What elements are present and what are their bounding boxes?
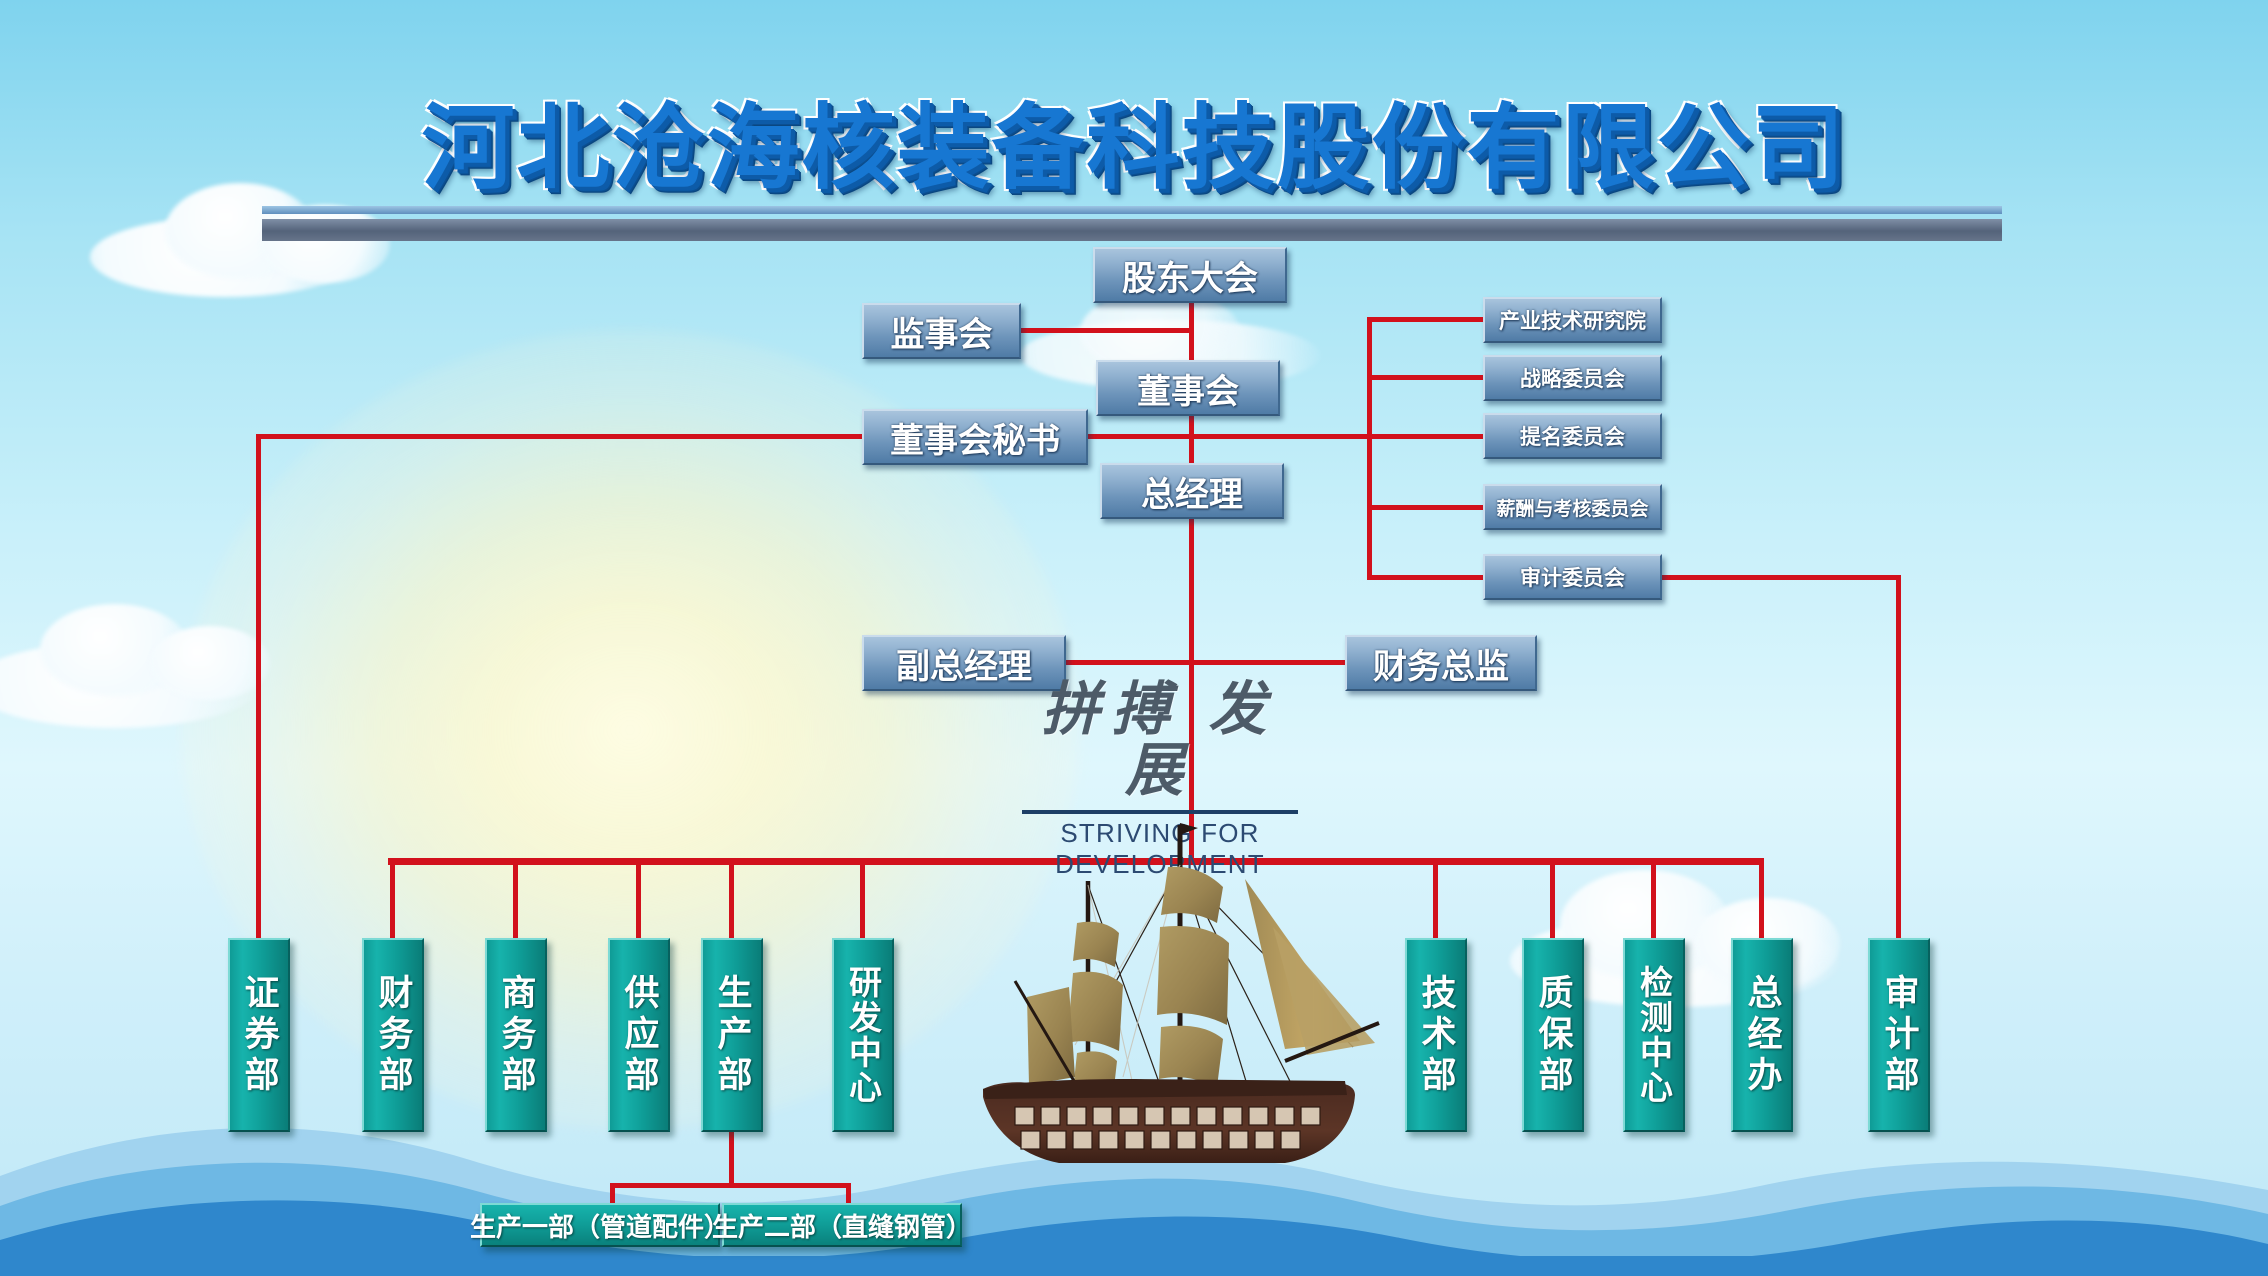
dept-box-rnd-center[interactable]: 研发中心 — [832, 938, 894, 1132]
org-box-deputy-gm[interactable]: 副总经理 — [862, 635, 1066, 691]
dept-box-production[interactable]: 生产部 — [701, 938, 763, 1132]
connector-drop-business — [513, 858, 518, 940]
dept-box-audit-label: 审计部 — [1882, 974, 1917, 1097]
connector-committee-5 — [1367, 575, 1487, 580]
dept-box-finance[interactable]: 财务部 — [362, 938, 424, 1132]
org-box-shareholders[interactable]: 股东大会 — [1093, 247, 1287, 303]
cloud-mid-left — [0, 590, 300, 740]
connector-left-trunk — [256, 434, 261, 939]
connector-production-units — [610, 1183, 850, 1188]
connector-committee-4 — [1367, 505, 1487, 510]
slogan-block: 拼搏 发展 STRIVING FOR DEVELOPMENT — [1010, 680, 1310, 880]
connector-audit-right — [1620, 575, 1900, 580]
production-unit-box-1[interactable]: 生产一部（管道配件） — [480, 1203, 720, 1247]
connector-board-secretary-left — [256, 434, 864, 439]
org-box-supervisory[interactable]: 监事会 — [862, 303, 1021, 359]
production-unit-box-2-label: 生产二部（直缝钢管） — [712, 1207, 972, 1244]
slogan-chinese: 拼搏 发展 — [1010, 680, 1310, 802]
org-box-general-manager[interactable]: 总经理 — [1100, 463, 1284, 519]
org-box-cfo[interactable]: 财务总监 — [1345, 635, 1537, 691]
org-box-nomination-committee[interactable]: 提名委员会 — [1483, 413, 1662, 459]
connector-drop-rnd — [860, 858, 865, 940]
slogan-english: STRIVING FOR DEVELOPMENT — [1010, 818, 1310, 880]
dept-box-securities-label: 证券部 — [242, 974, 277, 1097]
org-box-board-secretary-label: 董事会秘书 — [890, 413, 1060, 462]
org-box-remuneration-committee[interactable]: 薪酬与考核委员会 — [1483, 484, 1662, 530]
production-unit-box-1-label: 生产一部（管道配件） — [470, 1207, 730, 1244]
connector-drop-supply — [636, 858, 641, 940]
org-box-strategy-committee[interactable]: 战略委员会 — [1483, 355, 1662, 401]
org-box-audit-committee[interactable]: 审计委员会 — [1483, 554, 1662, 600]
dept-box-inspection-center-label: 检测中心 — [1638, 965, 1671, 1105]
page-title: 河北沧海核装备科技股份有限公司 — [0, 72, 2268, 207]
dept-box-business[interactable]: 商务部 — [485, 938, 547, 1132]
dept-box-technology[interactable]: 技术部 — [1405, 938, 1467, 1132]
connector-drop-inspection — [1651, 858, 1656, 940]
sailing-ship-illustration — [955, 815, 1385, 1175]
connector-audit-trunk — [1896, 575, 1901, 939]
connector-drop-gm-office — [1759, 858, 1764, 940]
connector-gm-down — [1189, 502, 1194, 862]
org-box-industrial-tech-institute[interactable]: 产业技术研究院 — [1483, 297, 1662, 343]
dept-box-technology-label: 技术部 — [1419, 974, 1454, 1097]
org-box-board[interactable]: 董事会 — [1096, 360, 1280, 416]
header-rule-thin — [262, 206, 2002, 214]
connector-drop-quality — [1550, 858, 1555, 940]
org-box-deputy-gm-label: 副总经理 — [896, 639, 1032, 688]
connector-board-gm — [1189, 408, 1194, 468]
connector-committee-trunk-to-board — [1189, 434, 1369, 439]
connector-cfo — [1189, 660, 1351, 665]
org-box-general-manager-label: 总经理 — [1141, 467, 1243, 516]
org-box-cfo-label: 财务总监 — [1373, 639, 1509, 688]
connector-department-bus — [388, 858, 1762, 865]
connector-drop-production — [729, 858, 734, 940]
connector-supervisory — [1010, 328, 1192, 333]
dept-box-securities[interactable]: 证券部 — [228, 938, 290, 1132]
connector-committee-2 — [1367, 375, 1487, 380]
slogan-divider — [1022, 810, 1298, 814]
dept-box-quality-assurance-label: 质保部 — [1536, 974, 1571, 1097]
header-rule-thick — [262, 219, 2002, 241]
connector-drop-finance — [390, 858, 395, 940]
org-box-board-label: 董事会 — [1137, 364, 1239, 413]
dept-box-gm-office[interactable]: 总经办 — [1731, 938, 1793, 1132]
org-box-audit-committee-label: 审计委员会 — [1520, 562, 1625, 592]
org-box-strategy-committee-label: 战略委员会 — [1520, 363, 1625, 393]
dept-box-audit[interactable]: 审计部 — [1868, 938, 1930, 1132]
dept-box-gm-office-label: 总经办 — [1745, 974, 1780, 1097]
dept-box-finance-label: 财务部 — [376, 974, 411, 1097]
org-box-industrial-tech-institute-label: 产业技术研究院 — [1499, 305, 1646, 335]
connector-committee-trunk — [1367, 317, 1372, 579]
production-unit-box-2[interactable]: 生产二部（直缝钢管） — [722, 1203, 962, 1247]
org-box-nomination-committee-label: 提名委员会 — [1520, 421, 1625, 451]
connector-committee-1 — [1367, 317, 1487, 322]
dept-box-quality-assurance[interactable]: 质保部 — [1522, 938, 1584, 1132]
dept-box-rnd-center-label: 研发中心 — [847, 965, 880, 1105]
org-box-supervisory-label: 监事会 — [891, 307, 993, 356]
connector-committee-3 — [1367, 434, 1487, 439]
dept-box-inspection-center[interactable]: 检测中心 — [1623, 938, 1685, 1132]
dept-box-production-label: 生产部 — [715, 974, 750, 1097]
org-box-shareholders-label: 股东大会 — [1122, 251, 1258, 300]
dept-box-supply-label: 供应部 — [622, 974, 657, 1097]
org-box-board-secretary[interactable]: 董事会秘书 — [862, 409, 1088, 465]
connector-production-down — [729, 1128, 734, 1186]
dept-box-business-label: 商务部 — [499, 974, 534, 1097]
org-box-remuneration-committee-label: 薪酬与考核委员会 — [1496, 494, 1648, 521]
connector-drop-technology — [1433, 858, 1438, 940]
dept-box-supply[interactable]: 供应部 — [608, 938, 670, 1132]
org-chart-poster: 河北沧海核装备科技股份有限公司 股东大会 监事会 — [0, 0, 2268, 1276]
